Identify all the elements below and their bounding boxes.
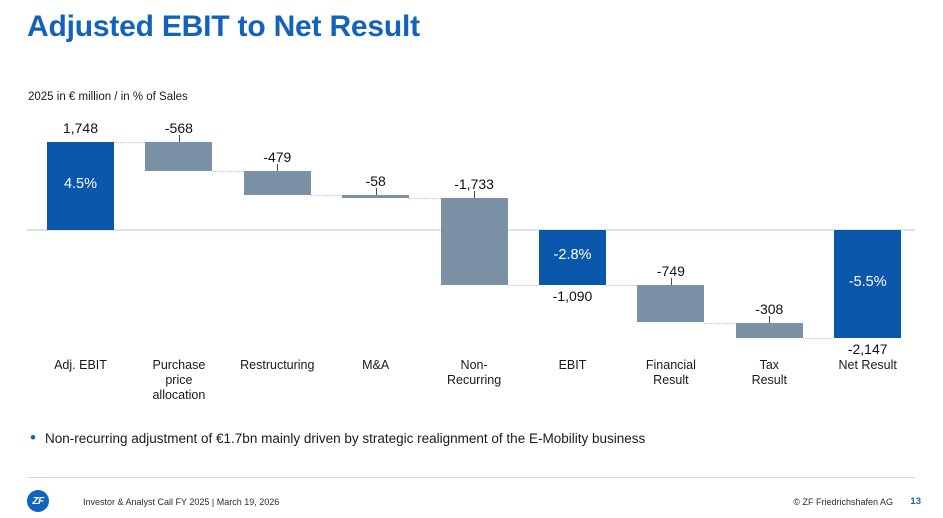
waterfall-connector [409, 198, 440, 199]
category-label-net-result: Net Result [808, 358, 927, 373]
label-leader-tick [376, 188, 377, 195]
zf-logo-icon: ZF [27, 490, 49, 512]
bullet-text: Non-recurring adjustment of €1.7bn mainl… [45, 430, 645, 447]
bar-financial-result [637, 285, 704, 323]
label-leader-tick [769, 316, 770, 323]
waterfall-connector [803, 338, 834, 339]
bar-purchase-price-allocation [145, 142, 212, 171]
footer-divider [27, 477, 915, 478]
waterfall-chart: 4.5%-2.8%-5.5% 1,748-568-479-58-1,733-1,… [0, 0, 943, 420]
value-label-restructuring: -479 [209, 149, 346, 165]
waterfall-connector [114, 142, 145, 143]
footer-event-text: Investor & Analyst Call FY 2025 | March … [83, 497, 279, 507]
bar-tax-result [736, 323, 803, 338]
waterfall-connector [606, 285, 637, 286]
label-leader-tick [277, 164, 278, 171]
page-number: 13 [910, 496, 921, 507]
bullet-row: • Non-recurring adjustment of €1.7bn mai… [30, 430, 645, 447]
waterfall-connector [704, 323, 735, 324]
value-label-financial-result: -749 [602, 263, 739, 279]
label-leader-tick [179, 135, 180, 142]
bar-m-a [342, 195, 409, 198]
category-label-line: allocation [119, 388, 238, 403]
bar-percent-label: 4.5% [47, 176, 114, 192]
category-label-line: Result [710, 373, 829, 388]
label-leader-tick [671, 278, 672, 285]
bar-percent-label: -5.5% [834, 274, 901, 290]
bar-net-result: -5.5% [834, 230, 901, 338]
label-leader-tick [474, 191, 475, 198]
waterfall-connector [311, 195, 342, 196]
bar-adj-ebit: 4.5% [47, 142, 114, 230]
footer-copyright: © ZF Friedrichshafen AG [793, 497, 893, 507]
value-label-net-result: -2,147 [799, 341, 936, 357]
waterfall-connector [212, 171, 243, 172]
bar-non-recurring [441, 198, 508, 285]
bullet-marker-icon: • [30, 430, 36, 446]
value-label-purchase-price-allocation: -568 [110, 120, 247, 136]
value-label-tax-result: -308 [701, 301, 838, 317]
bar-percent-label: -2.8% [539, 247, 606, 263]
category-label-line: Net Result [808, 358, 927, 373]
bar-restructuring [244, 171, 311, 195]
value-label-non-recurring: -1,733 [406, 176, 543, 192]
value-label-ebit: -1,090 [504, 288, 641, 304]
bar-ebit: -2.8% [539, 230, 606, 285]
category-label-line: Recurring [415, 373, 534, 388]
waterfall-connector [508, 285, 539, 286]
category-label-line: price [119, 373, 238, 388]
